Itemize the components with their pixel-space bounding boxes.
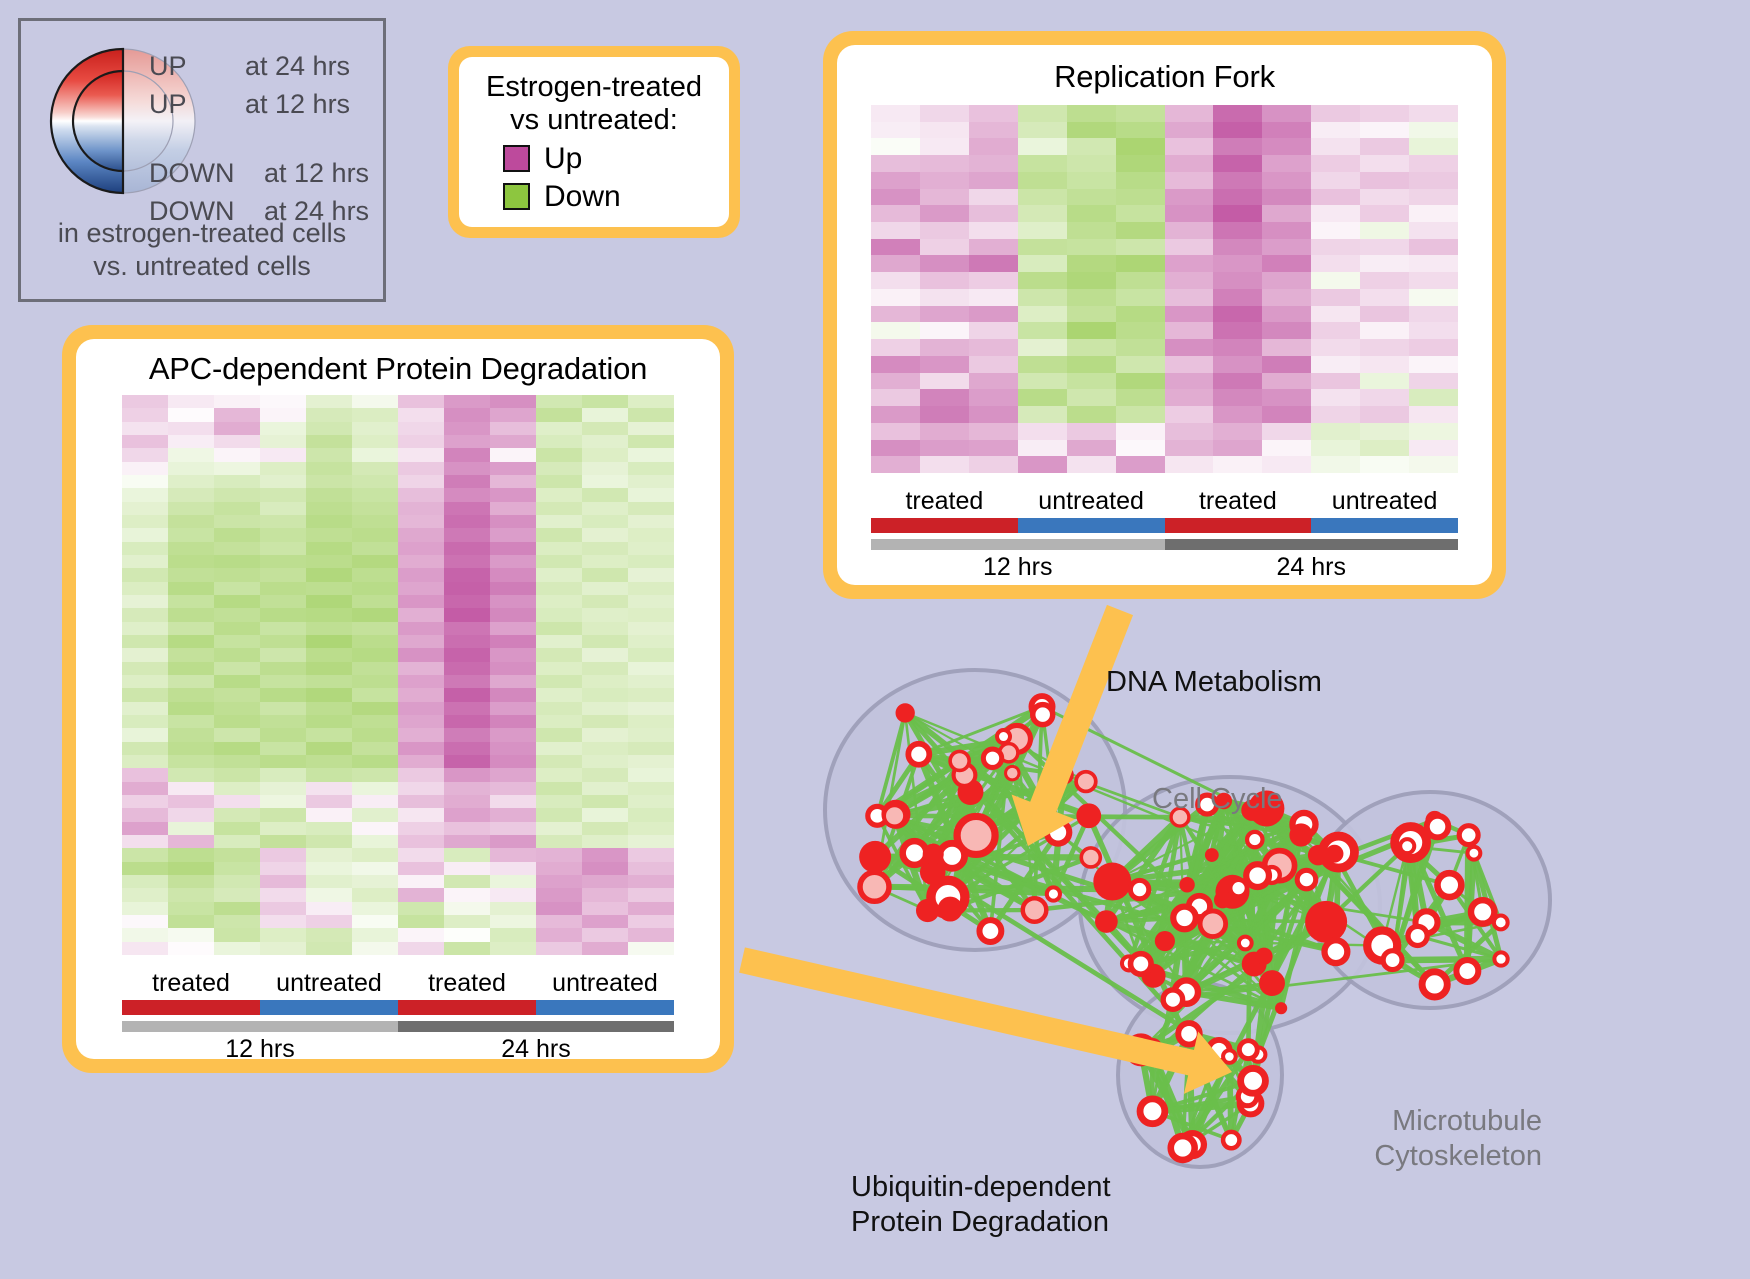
heatmap-cell: [1262, 339, 1311, 356]
heatmap-cell: [490, 808, 536, 821]
heatmap-cell: [214, 822, 260, 835]
heatmap-cell: [352, 395, 398, 408]
heatmap-cell: [306, 888, 352, 901]
heatmap-cell: [1018, 406, 1067, 423]
panel-replication-fork: Replication Fork treateduntreatedtreated…: [823, 31, 1506, 599]
network-label-ubiquitin-degradation: Ubiquitin-dependent Protein Degradation: [851, 1170, 1111, 1240]
heatmap-cell: [168, 808, 214, 821]
heatmap-cell: [490, 622, 536, 635]
heatmap-cell: [628, 808, 674, 821]
heatmap-cell: [352, 515, 398, 528]
heatmap-cell: [352, 635, 398, 648]
down-color-swatch: [503, 183, 530, 210]
heatmap-cell: [490, 502, 536, 515]
heatmap-cell: [1262, 205, 1311, 222]
heatmap-cell: [582, 942, 628, 955]
heatmap-cell: [444, 888, 490, 901]
heatmap-cell: [214, 555, 260, 568]
heatmap-cell: [260, 928, 306, 941]
heatmap-cell: [1409, 155, 1458, 172]
heatmap-cell: [1360, 440, 1409, 457]
heatmap-cell: [1165, 389, 1214, 406]
heatmap-cell: [582, 448, 628, 461]
heatmap-cell: [490, 435, 536, 448]
heatmap-cell: [1165, 155, 1214, 172]
heatmap-cell: [920, 138, 969, 155]
heatmap-cell: [214, 915, 260, 928]
heatmap-cell: [398, 662, 444, 675]
heatmap-cell: [1213, 138, 1262, 155]
heatmap-cell: [398, 635, 444, 648]
heatmap-cell: [306, 502, 352, 515]
heatmap-cell: [1067, 456, 1116, 473]
heatmap-cell: [536, 768, 582, 781]
heatmap-cell: [444, 408, 490, 421]
heatmap-cell: [536, 728, 582, 741]
heatmap-cell: [1018, 322, 1067, 339]
heatmap-cell: [582, 475, 628, 488]
heatmap-cell: [306, 822, 352, 835]
heatmap-cell: [260, 755, 306, 768]
heatmap-cell: [536, 475, 582, 488]
heatmap-cell: [398, 888, 444, 901]
heatmap-cell: [306, 942, 352, 955]
heatmap-cell: [398, 408, 444, 421]
heatmap-cell: [536, 608, 582, 621]
heatmap-cell: [168, 928, 214, 941]
heatmap-cell: [628, 848, 674, 861]
heatmap-cell: [1165, 289, 1214, 306]
heatmap-cell: [920, 406, 969, 423]
heatmap-cell: [214, 528, 260, 541]
heatmap-cell: [1067, 239, 1116, 256]
heatmap-cell: [168, 568, 214, 581]
heatmap-cell: [398, 835, 444, 848]
heatmap-cell: [582, 888, 628, 901]
heatmap-cell: [1116, 138, 1165, 155]
ring-legend-box: UP at 24 hrs UP at 12 hrs DOWN at 12 hrs…: [18, 18, 386, 302]
heatmap-cell: [214, 435, 260, 448]
heatmap-cell: [920, 306, 969, 323]
timepoint-swatch: [1165, 539, 1459, 550]
heatmap-cell: [306, 702, 352, 715]
heatmap-cell: [214, 622, 260, 635]
heatmap-cell: [628, 822, 674, 835]
ring-legend-dir-0: UP: [149, 51, 187, 82]
heatmap-cell: [1213, 423, 1262, 440]
heatmap-cell: [1262, 222, 1311, 239]
treatment-swatch: [398, 1000, 536, 1015]
heatmap-cell: [628, 782, 674, 795]
heatmap-cell: [398, 862, 444, 875]
key-legend-label-down: Down: [544, 180, 621, 214]
heatmap-cell: [1311, 172, 1360, 189]
heatmap-cell: [444, 675, 490, 688]
panel-title-replication-fork: Replication Fork: [871, 59, 1458, 95]
heatmap-cell: [214, 635, 260, 648]
heatmap-cell: [1018, 239, 1067, 256]
heatmap-cell: [214, 888, 260, 901]
heatmap-cell: [1213, 272, 1262, 289]
heatmap-cell: [168, 822, 214, 835]
heatmap-cell: [920, 222, 969, 239]
heatmap-cell: [490, 688, 536, 701]
heatmap-cell: [1165, 122, 1214, 139]
panel-apc-degradation: APC-dependent Protein Degradation treate…: [62, 325, 734, 1073]
treatment-swatch: [122, 1000, 260, 1015]
heatmap-cell: [1067, 172, 1116, 189]
heatmap-cell: [582, 395, 628, 408]
heatmap-cell: [260, 475, 306, 488]
heatmap-cell: [1018, 356, 1067, 373]
heatmap-cell: [352, 782, 398, 795]
heatmap-cell: [352, 822, 398, 835]
heatmap-cell: [260, 888, 306, 901]
heatmap-cell: [168, 702, 214, 715]
heatmap-cell: [1165, 406, 1214, 423]
heatmap-cell: [582, 835, 628, 848]
heatmap-cell: [1018, 138, 1067, 155]
heatmap-cell: [1360, 172, 1409, 189]
heatmap-cell: [582, 675, 628, 688]
timepoint-label: 12 hrs: [122, 1035, 398, 1059]
heatmap-cell: [871, 222, 920, 239]
heatmap-cell: [306, 622, 352, 635]
heatmap-cell: [444, 502, 490, 515]
heatmap-cell: [260, 742, 306, 755]
heatmap-cell: [1360, 155, 1409, 172]
heatmap-cell: [352, 928, 398, 941]
heatmap-cell: [306, 782, 352, 795]
heatmap-cell: [536, 875, 582, 888]
heatmap-cell: [628, 795, 674, 808]
heatmap-cell: [1311, 138, 1360, 155]
heatmap-cell: [352, 462, 398, 475]
heatmap-cell: [536, 622, 582, 635]
key-legend-title-line1: Estrogen-treated: [465, 71, 723, 104]
heatmap-cell: [1165, 339, 1214, 356]
heatmap-cell: [260, 848, 306, 861]
treatment-labels: treateduntreatedtreateduntreated: [871, 487, 1458, 516]
heatmap-cell: [969, 172, 1018, 189]
heatmap-cell: [352, 528, 398, 541]
heatmap-cell: [871, 122, 920, 139]
heatmap-cell: [122, 568, 168, 581]
heatmap-cell: [536, 702, 582, 715]
heatmap-cell: [1360, 138, 1409, 155]
heatmap-cell: [969, 155, 1018, 172]
heatmap-cell: [490, 555, 536, 568]
heatmap-cell: [306, 728, 352, 741]
heatmap-cell: [1311, 339, 1360, 356]
heatmap-cell: [260, 555, 306, 568]
heatmap-cell: [1067, 105, 1116, 122]
heatmap-cell: [1067, 322, 1116, 339]
heatmap-cell: [1116, 272, 1165, 289]
heatmap-cell: [444, 928, 490, 941]
key-legend-panel: Estrogen-treated vs untreated: Up Down: [448, 46, 740, 238]
heatmap-cell: [214, 462, 260, 475]
heatmap-cell: [536, 675, 582, 688]
heatmap-cell: [920, 105, 969, 122]
heatmap-cell: [1360, 356, 1409, 373]
heatmap-cell: [260, 795, 306, 808]
heatmap-cell: [444, 835, 490, 848]
heatmap-cell: [122, 862, 168, 875]
heatmap-cell: [628, 408, 674, 421]
heatmap-cell: [969, 255, 1018, 272]
heatmap-cell: [1262, 122, 1311, 139]
heatmap-cell: [1213, 155, 1262, 172]
heatmap-cell: [536, 502, 582, 515]
heatmap-cell: [398, 622, 444, 635]
heatmap-cell: [1262, 289, 1311, 306]
heatmap-cell: [582, 822, 628, 835]
heatmap-cell: [1213, 172, 1262, 189]
heatmap-cell: [168, 742, 214, 755]
heatmap-cell: [920, 289, 969, 306]
heatmap-cell: [122, 782, 168, 795]
heatmap-cell: [1311, 255, 1360, 272]
heatmap-cell: [536, 568, 582, 581]
heatmap-cell: [536, 555, 582, 568]
heatmap-cell: [628, 542, 674, 555]
heatmap-cell: [1311, 222, 1360, 239]
heatmap-cell: [168, 662, 214, 675]
heatmap-cell: [969, 456, 1018, 473]
heatmap-cell: [398, 528, 444, 541]
heatmap-cell: [582, 502, 628, 515]
heatmap-cell: [1360, 289, 1409, 306]
heatmap-cell: [969, 239, 1018, 256]
heatmap-cell: [214, 835, 260, 848]
heatmap-cell: [168, 768, 214, 781]
heatmap-cell: [306, 635, 352, 648]
heatmap-cell: [352, 795, 398, 808]
heatmap-cell: [352, 715, 398, 728]
timepoint-label: 12 hrs: [871, 553, 1165, 582]
heatmap-cell: [1067, 406, 1116, 423]
heatmap-cell: [214, 475, 260, 488]
heatmap-cell: [1311, 272, 1360, 289]
heatmap-cell: [628, 648, 674, 661]
heatmap-cell: [1116, 406, 1165, 423]
heatmap-cell: [444, 622, 490, 635]
heatmap-cell: [969, 205, 1018, 222]
heatmap-cell: [306, 582, 352, 595]
heatmap-cell: [122, 488, 168, 501]
heatmap-cell: [352, 648, 398, 661]
heatmap-cell: [352, 702, 398, 715]
heatmap-cell: [920, 389, 969, 406]
treatment-label: treated: [1165, 487, 1312, 516]
ring-legend-dir-2: DOWN: [149, 158, 234, 189]
heatmap-cell: [1116, 239, 1165, 256]
heatmap-cell: [214, 848, 260, 861]
heatmap-cell: [444, 768, 490, 781]
heatmap-cell: [1165, 239, 1214, 256]
heatmap-cell: [628, 528, 674, 541]
heatmap-cell: [1311, 456, 1360, 473]
heatmap-cell: [306, 715, 352, 728]
heatmap-cell: [1213, 322, 1262, 339]
heatmap-cell: [1213, 406, 1262, 423]
heatmap-cell: [536, 488, 582, 501]
heatmap-cell: [1116, 155, 1165, 172]
heatmap-cell: [398, 608, 444, 621]
heatmap-cell: [920, 189, 969, 206]
heatmap-cell: [582, 568, 628, 581]
heatmap-cell: [168, 502, 214, 515]
heatmap-cell: [582, 555, 628, 568]
heatmap-cell: [871, 272, 920, 289]
heatmap-cell: [352, 675, 398, 688]
heatmap-cell: [214, 395, 260, 408]
heatmap-cell: [214, 862, 260, 875]
heatmap-cell: [582, 755, 628, 768]
heatmap-cell: [969, 440, 1018, 457]
heatmap-cell: [582, 848, 628, 861]
heatmap-cell: [1067, 440, 1116, 457]
heatmap-cell: [260, 902, 306, 915]
heatmap-cell: [582, 622, 628, 635]
figure-canvas: UP at 24 hrs UP at 12 hrs DOWN at 12 hrs…: [0, 0, 1750, 1279]
heatmap-cell: [1116, 322, 1165, 339]
heatmap-cell: [1409, 189, 1458, 206]
heatmap-cell: [490, 835, 536, 848]
heatmap-cell: [168, 528, 214, 541]
heatmap-cell: [306, 648, 352, 661]
heatmap-cell: [1018, 205, 1067, 222]
heatmap-cell: [444, 702, 490, 715]
up-color-swatch: [503, 145, 530, 172]
heatmap-cell: [1311, 356, 1360, 373]
heatmap-cell: [306, 555, 352, 568]
heatmap-cell: [490, 595, 536, 608]
heatmap-cell: [306, 515, 352, 528]
heatmap-cell: [1311, 440, 1360, 457]
heatmap-cell: [1409, 272, 1458, 289]
treatment-swatch: [536, 1000, 674, 1015]
heatmap-cell: [1165, 189, 1214, 206]
heatmap-cell: [214, 755, 260, 768]
heatmap-cell: [214, 688, 260, 701]
heatmap-cell: [582, 795, 628, 808]
heatmap-cell: [1311, 155, 1360, 172]
heatmap-cell: [214, 728, 260, 741]
heatmap-cell: [122, 408, 168, 421]
heatmap-cell: [1067, 373, 1116, 390]
heatmap-cell: [444, 742, 490, 755]
heatmap-cell: [168, 608, 214, 621]
heatmap-cell: [260, 542, 306, 555]
heatmap-cell: [122, 875, 168, 888]
heatmap-cell: [260, 448, 306, 461]
heatmap-cell: [398, 875, 444, 888]
heatmap-cell: [582, 608, 628, 621]
heatmap-cell: [214, 782, 260, 795]
heatmap-cell: [536, 782, 582, 795]
treatment-swatch: [1311, 518, 1458, 533]
heatmap-cell: [628, 902, 674, 915]
heatmap-cell: [444, 662, 490, 675]
heatmap-cell: [168, 555, 214, 568]
heatmap-cell: [444, 582, 490, 595]
heatmap-cell: [352, 875, 398, 888]
heatmap-cell: [490, 755, 536, 768]
heatmap-cell: [490, 475, 536, 488]
heatmap-cell: [306, 448, 352, 461]
heatmap-cell: [444, 395, 490, 408]
panel-title-apc-degradation: APC-dependent Protein Degradation: [122, 351, 674, 387]
heatmap-cell: [1262, 255, 1311, 272]
heatmap-cell: [871, 423, 920, 440]
heatmap-cell: [1213, 205, 1262, 222]
heatmap-cell: [398, 395, 444, 408]
heatmap-cell: [1116, 456, 1165, 473]
heatmap-cell: [214, 928, 260, 941]
heatmap-cell: [168, 542, 214, 555]
heatmap-cell: [1165, 373, 1214, 390]
heatmap-cell: [260, 568, 306, 581]
heatmap-cell: [122, 582, 168, 595]
heatmap-cell: [214, 488, 260, 501]
heatmap-cell: [628, 635, 674, 648]
heatmap-replication-fork: [871, 105, 1458, 473]
heatmap-cell: [1262, 423, 1311, 440]
heatmap-cell: [920, 456, 969, 473]
heatmap-cell: [214, 408, 260, 421]
timepoint-label: 24 hrs: [1165, 553, 1459, 582]
heatmap-cell: [1213, 456, 1262, 473]
heatmap-cell: [306, 795, 352, 808]
heatmap-cell: [444, 862, 490, 875]
heatmap-cell: [490, 822, 536, 835]
heatmap-cell: [260, 862, 306, 875]
heatmap-cell: [1018, 440, 1067, 457]
heatmap-cell: [352, 755, 398, 768]
heatmap-cell: [1067, 189, 1116, 206]
heatmap-cell: [1213, 373, 1262, 390]
heatmap-cell: [398, 488, 444, 501]
heatmap-cell: [536, 395, 582, 408]
heatmap-cell: [1165, 205, 1214, 222]
heatmap-cell: [1360, 322, 1409, 339]
heatmap-cell: [352, 408, 398, 421]
heatmap-cell: [1360, 105, 1409, 122]
timepoint-color-bar: [122, 1021, 674, 1032]
heatmap-cell: [260, 662, 306, 675]
heatmap-cell: [122, 595, 168, 608]
heatmap-cell: [582, 662, 628, 675]
heatmap-cell: [628, 942, 674, 955]
timepoint-swatch: [122, 1021, 398, 1032]
heatmap-cell: [871, 440, 920, 457]
heatmap-cell: [398, 648, 444, 661]
heatmap-cell: [536, 542, 582, 555]
heatmap-cell: [122, 688, 168, 701]
heatmap-cell: [490, 728, 536, 741]
heatmap-cell: [352, 608, 398, 621]
heatmap-cell: [871, 155, 920, 172]
heatmap-cell: [1262, 406, 1311, 423]
heatmap-cell: [536, 635, 582, 648]
heatmap-cell: [444, 915, 490, 928]
key-legend-item-up: Up: [465, 142, 723, 176]
heatmap-cell: [306, 595, 352, 608]
heatmap-cell: [1213, 356, 1262, 373]
heatmap-cell: [969, 122, 1018, 139]
